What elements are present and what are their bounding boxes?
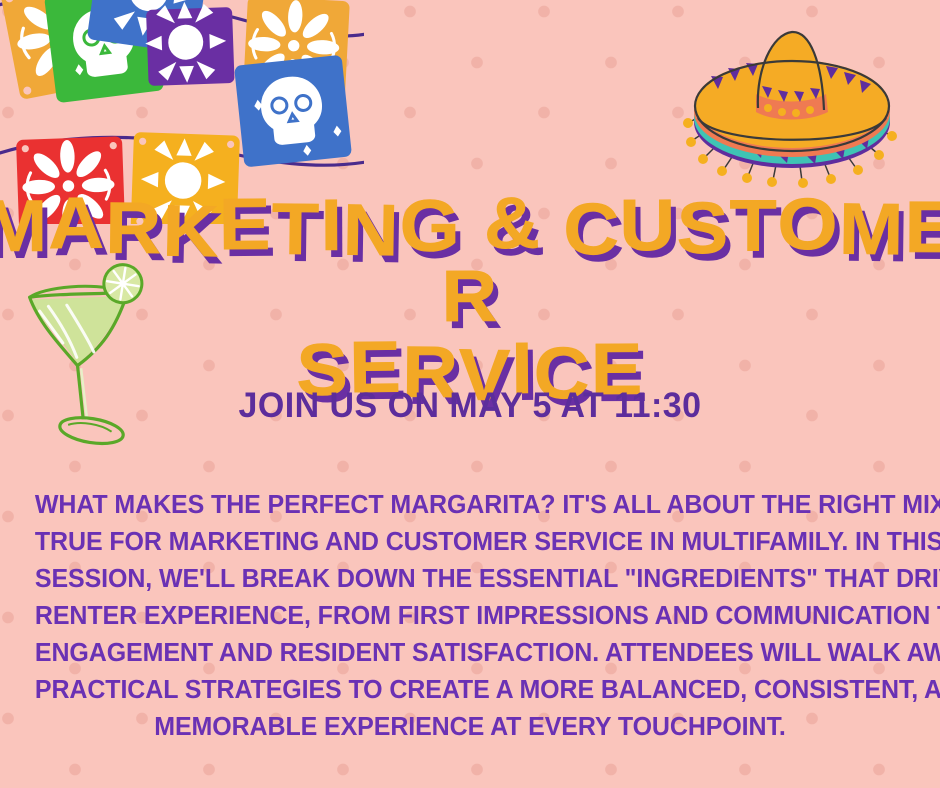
banner-string <box>0 0 364 165</box>
description-line: RENTER EXPERIENCE, FROM FIRST IMPRESSION… <box>35 598 905 635</box>
banner-flag-blue-skull <box>234 55 352 168</box>
description-line: TRUE FOR MARKETING AND CUSTOMER SERVICE … <box>35 524 905 561</box>
banner-flag-green-skull <box>44 0 164 103</box>
sombrero-icon <box>676 18 910 190</box>
description-line: PRACTICAL STRATEGIES TO CREATE A MORE BA… <box>35 672 905 709</box>
banner-flag-orange-flower <box>0 0 129 100</box>
description-line: MEMORABLE EXPERIENCE AT EVERY TOUCHPOINT… <box>35 709 905 746</box>
title-line-1: MARKETING & CUSTOMER <box>0 192 940 334</box>
session-description: WHAT MAKES THE PERFECT MARGARITA? IT'S A… <box>35 487 905 746</box>
description-line: ENGAGEMENT AND RESIDENT SATISFACTION. AT… <box>35 635 905 672</box>
event-datetime: JOIN US ON MAY 5 AT 11:30 <box>14 386 926 426</box>
banner-flag-orange-flower-right <box>243 0 350 101</box>
event-flyer: MARKETING & CUSTOMER SERVICE JOIN US ON … <box>0 0 940 788</box>
banner-flag-blue-sun <box>87 0 211 54</box>
banner-flag-purple-sun <box>144 0 235 86</box>
description-line: WHAT MAKES THE PERFECT MARGARITA? IT'S A… <box>35 487 905 524</box>
description-line: SESSION, WE'LL BREAK DOWN THE ESSENTIAL … <box>35 561 905 598</box>
page-title: MARKETING & CUSTOMER SERVICE <box>0 192 940 406</box>
